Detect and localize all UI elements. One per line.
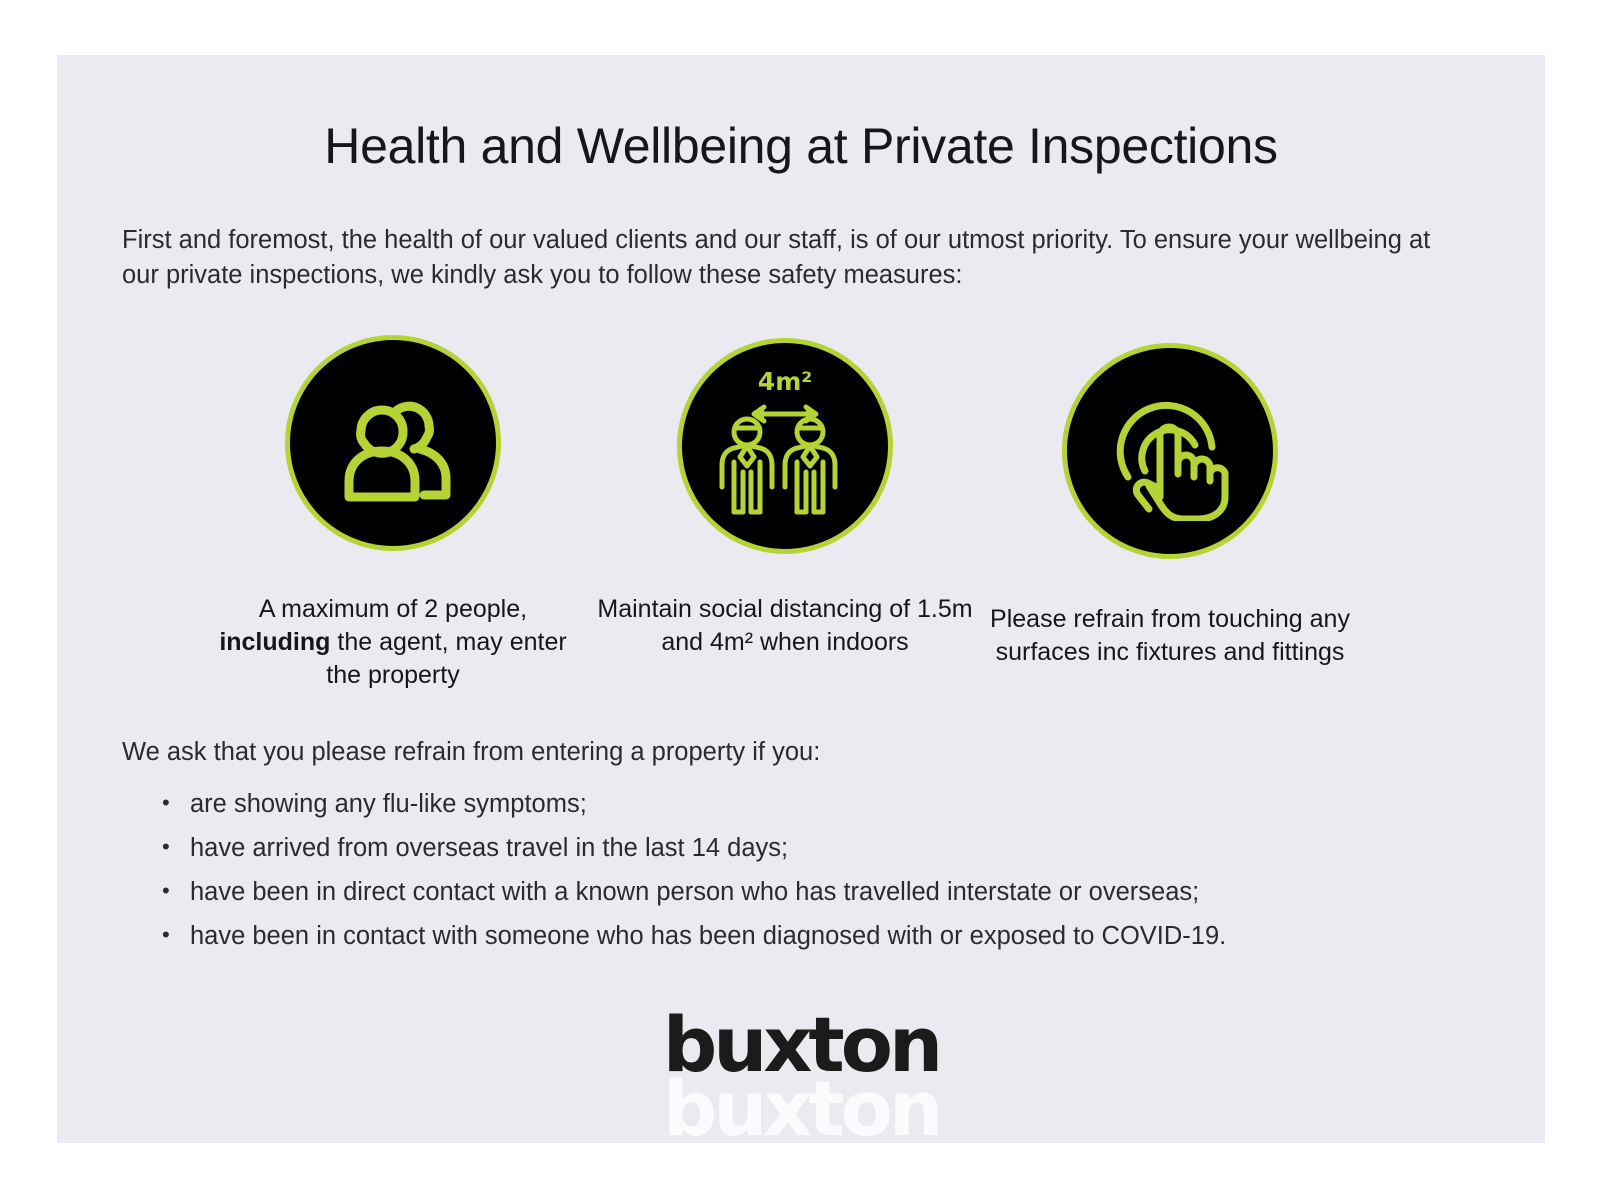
measure-disc-2: 4m² [677, 338, 893, 554]
measure-caption-2: Maintain social distancing of 1.5m and 4… [595, 575, 975, 659]
measure-caption-3: Please refrain from touching any surface… [980, 575, 1360, 669]
footer-logo-area: buxton buxton [57, 1005, 1545, 1143]
restrictions-list: are showing any flu-like symptoms; have … [122, 787, 1462, 953]
caption-part-1: A maximum of 2 people, [259, 595, 527, 623]
measures-row: A maximum of 2 people, including the age… [57, 335, 1545, 755]
restrictions-lead: We ask that you please refrain from ente… [122, 735, 1462, 769]
measure-card-social-distancing: 4m² [595, 335, 975, 659]
measure-caption-1: A maximum of 2 people, including the age… [203, 575, 583, 692]
buxton-logo-reflection: buxton [57, 1069, 1545, 1143]
measure-card-no-touch: Please refrain from touching any surface… [980, 335, 1360, 669]
measure-disc-3 [1062, 343, 1278, 559]
poster-card: Health and Wellbeing at Private Inspecti… [57, 55, 1545, 1143]
list-item: have been in direct contact with a known… [190, 875, 1462, 909]
list-item: are showing any flu-like symptoms; [190, 787, 1462, 821]
caption-part-2: the agent, may enter the property [326, 628, 566, 689]
list-item: have arrived from overseas travel in the… [190, 831, 1462, 865]
caption-bold-including: including [219, 628, 330, 656]
measure-card-max-people: A maximum of 2 people, including the age… [203, 335, 583, 692]
intro-paragraph: First and foremost, the health of our va… [122, 223, 1452, 293]
restrictions-block: We ask that you please refrain from ente… [122, 735, 1462, 963]
touch-hand-icon [1100, 381, 1240, 521]
disc-wrap-3 [980, 335, 1360, 575]
two-people-icon [328, 383, 458, 503]
list-item: have been in contact with someone who ha… [190, 919, 1462, 953]
disc-wrap-2: 4m² [595, 335, 975, 575]
disc-wrap-1 [203, 335, 583, 575]
social-distancing-icon: 4m² [710, 366, 860, 526]
icon-area-label: 4m² [758, 367, 812, 396]
measure-disc-1 [285, 335, 501, 551]
page-title: Health and Wellbeing at Private Inspecti… [57, 117, 1545, 175]
